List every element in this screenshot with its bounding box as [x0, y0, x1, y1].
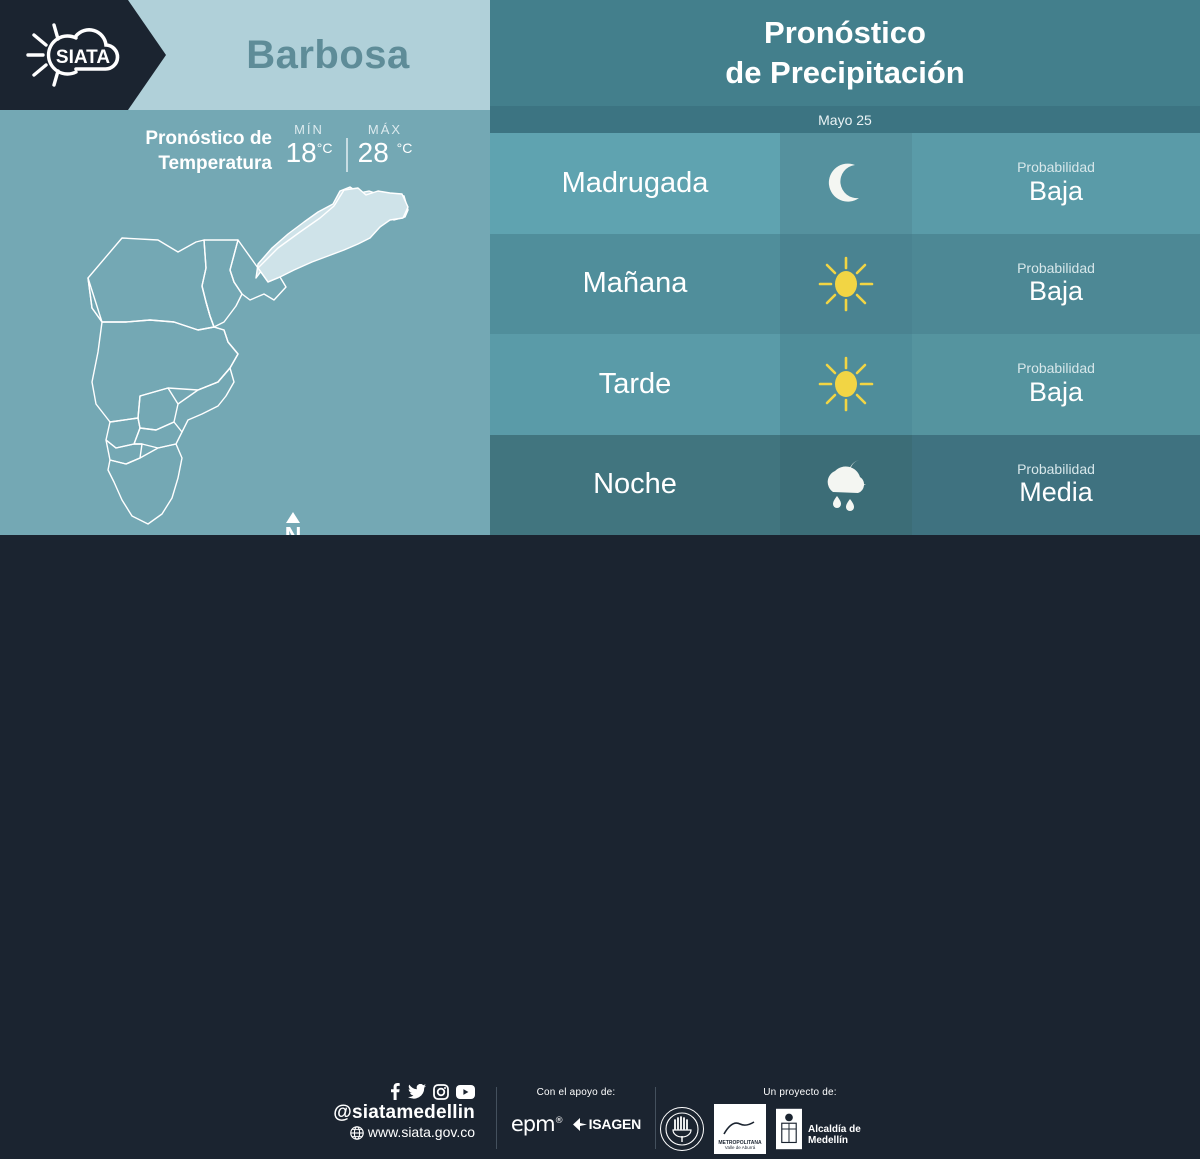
temperature-min-label: MÍN — [278, 122, 340, 137]
alcaldia-label: Alcaldía de Medellín — [808, 1124, 900, 1146]
area-metropolitana-icon: METROPOLITANA Valle de Aburrá — [714, 1104, 766, 1154]
twitter-icon[interactable] — [408, 1084, 426, 1099]
temperature-max-label: MÁX — [354, 122, 416, 137]
map-municipality-copacabana — [202, 240, 242, 327]
social-block: @siatamedellin www.siata.gov.co — [330, 1083, 475, 1142]
forecast-title: Pronóstico de Precipitación — [490, 0, 1200, 106]
period-label: Madrugada — [490, 133, 780, 234]
probability-value: Media — [1019, 478, 1093, 508]
probability-value: Baja — [1029, 378, 1083, 408]
probability-value: Baja — [1029, 177, 1083, 207]
moon-cloud-rain-icon — [815, 456, 877, 514]
probability-cell: Probabilidad Baja — [912, 234, 1200, 335]
siata-logo-text: SIATA — [56, 47, 110, 68]
period-label: Tarde — [490, 334, 780, 435]
map-municipality-envigado — [138, 388, 178, 430]
forecast-title-line2: de Precipitación — [725, 53, 964, 93]
map-municipality-bello — [88, 238, 214, 330]
forecast-row-noche: Noche Probabilidad Media — [490, 435, 1200, 536]
temperature-min-value: 18°C — [278, 137, 340, 169]
isagen-logo: ISAGEN — [573, 1116, 641, 1132]
universidad-de-antioquia-logo — [660, 1107, 704, 1151]
sun-icon — [816, 354, 876, 414]
temperature-max-unit: °C — [397, 140, 413, 156]
probability-value: Baja — [1029, 277, 1083, 307]
udea-seal-icon — [661, 1108, 703, 1150]
project-caption: Un proyecto de: — [660, 1087, 900, 1098]
temperature-min-unit: °C — [317, 140, 333, 156]
alcaldia-de-medellin-logo: Alcaldía de Medellín — [776, 1108, 900, 1150]
social-icons — [330, 1083, 475, 1100]
project-logos: METROPOLITANA Valle de Aburrá Alcaldía d… — [660, 1104, 900, 1154]
weather-icon-cell — [780, 334, 912, 435]
map-municipality-east-edge — [178, 368, 234, 432]
social-handle[interactable]: @siatamedellin — [330, 1102, 475, 1124]
support-caption: Con el apoyo de: — [506, 1087, 646, 1098]
youtube-icon[interactable] — [456, 1085, 475, 1099]
period-label: Mañana — [490, 234, 780, 335]
svg-text:Valle de Aburrá: Valle de Aburrá — [725, 1145, 756, 1150]
weather-icon-cell — [780, 234, 912, 335]
page-title: Barbosa — [166, 0, 490, 110]
forecast-row-tarde: Tarde — [490, 334, 1200, 435]
moon-icon — [818, 155, 874, 211]
forecast-row-madrugada: Madrugada Probabilidad Baja — [490, 133, 1200, 234]
temperature-divider — [346, 138, 348, 172]
sun-cloud-icon: SIATA — [24, 22, 142, 88]
epm-logo: epm® — [511, 1112, 563, 1136]
temperature-max: MÁX 28 °C — [354, 122, 416, 169]
temperature-values: MÍN 18°C MÁX 28 °C — [278, 122, 416, 172]
website-url: www.siata.gov.co — [368, 1124, 475, 1142]
left-panel: SIATA Barbosa Pronóstico de Temperatura … — [0, 0, 490, 535]
temperature-min: MÍN 18°C — [278, 122, 340, 169]
map-barbosa-fill — [258, 188, 408, 282]
siata-logo-banner: SIATA — [0, 0, 166, 110]
facebook-icon[interactable] — [388, 1083, 401, 1100]
support-block: Con el apoyo de: epm® ISAGEN — [506, 1087, 646, 1136]
probability-cell: Probabilidad Media — [912, 435, 1200, 536]
probability-label: Probabilidad — [1017, 361, 1095, 376]
temperature-title-line1: Pronóstico de — [72, 126, 272, 151]
forecast-date: Mayo 25 — [490, 106, 1200, 133]
footer-divider-1 — [496, 1087, 497, 1149]
sun-icon — [816, 254, 876, 314]
left-header: SIATA Barbosa — [0, 0, 490, 110]
footer: @siatamedellin www.siata.gov.co Con el a… — [0, 535, 1200, 630]
support-logos: epm® ISAGEN — [506, 1112, 646, 1136]
forecast-row-manana: Mañana — [490, 234, 1200, 335]
map-svg — [78, 182, 438, 532]
probability-label: Probabilidad — [1017, 160, 1095, 175]
alcaldia-crest-icon — [776, 1108, 802, 1150]
website-line[interactable]: www.siata.gov.co — [330, 1124, 475, 1142]
forecast-title-line1: Pronóstico — [764, 13, 926, 53]
forecast-rows: Madrugada Probabilidad Baja Mañana — [490, 133, 1200, 535]
footer-divider-2 — [655, 1087, 656, 1149]
area-metropolitana-logo: METROPOLITANA Valle de Aburrá — [714, 1104, 766, 1154]
globe-icon — [350, 1126, 364, 1140]
instagram-icon[interactable] — [433, 1084, 449, 1100]
weather-forecast-infographic: SIATA Barbosa Pronóstico de Temperatura … — [0, 0, 1200, 630]
temperature-max-value: 28 °C — [354, 137, 416, 169]
isagen-mark-icon — [573, 1118, 587, 1131]
forecast-panel: Pronóstico de Precipitación Mayo 25 Madr… — [490, 0, 1200, 535]
map-municipality-caldas — [108, 444, 182, 524]
weather-icon-cell — [780, 133, 912, 234]
project-block: Un proyecto de: METROPOLITANA V — [660, 1087, 900, 1154]
map-municipality-medellin — [88, 278, 238, 422]
temperature-title-line2: Temperatura — [72, 151, 272, 176]
probability-label: Probabilidad — [1017, 261, 1095, 276]
temperature-block: Pronóstico de Temperatura MÍN 18°C MÁX 2… — [0, 110, 490, 190]
probability-cell: Probabilidad Baja — [912, 133, 1200, 234]
aburra-valley-map: N — [0, 180, 490, 535]
period-label: Noche — [490, 435, 780, 536]
probability-cell: Probabilidad Baja — [912, 334, 1200, 435]
temperature-title: Pronóstico de Temperatura — [72, 126, 272, 176]
weather-icon-cell — [780, 435, 912, 536]
probability-label: Probabilidad — [1017, 462, 1095, 477]
